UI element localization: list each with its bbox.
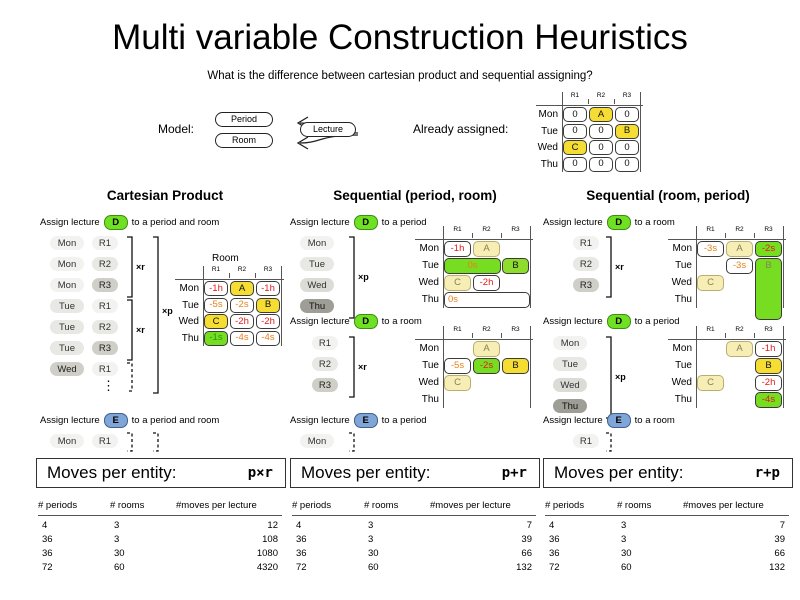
grid-vline (696, 326, 697, 408)
assign-prefix: Assign lecture (543, 316, 603, 327)
table-cell-periods: 72 (549, 562, 560, 573)
grid-cell: -3s (726, 258, 753, 274)
table-cell-periods: 4 (549, 520, 554, 531)
moves-label: Moves per entity: (554, 463, 683, 483)
grid-cell: -1h (444, 241, 471, 257)
grid-tick (725, 333, 726, 338)
table-cell-rooms: 3 (368, 534, 373, 545)
table-header-rule (38, 515, 282, 516)
table-header-rooms: # rooms (617, 500, 651, 511)
grid-row-label: Thu (666, 393, 692, 406)
table-header-rule (292, 515, 536, 516)
grid-cell: -2s (755, 241, 782, 257)
assign-prefix: Assign lecture (543, 415, 603, 426)
grid-vline (783, 226, 784, 308)
grid-col-header: R2 (476, 326, 498, 333)
lecture-chip-e[interactable]: E (104, 413, 128, 428)
period-token: Mon (50, 257, 84, 271)
moves-formula: p×r (248, 465, 273, 481)
table-cell-periods: 4 (296, 520, 301, 531)
grid-cell: B (615, 124, 639, 139)
table-cell-moves: 66 (683, 548, 785, 559)
grid-header-rule (415, 239, 533, 240)
lecture-chip-d[interactable]: D (607, 215, 631, 230)
grid-col-header: R3 (758, 326, 780, 333)
grid-row-label: Wed (173, 315, 199, 328)
grid-row-label: Wed (666, 376, 692, 389)
period-token: Mon (50, 236, 84, 250)
grid-row-label: Tue (413, 259, 439, 272)
grid-cell: -3s (697, 241, 724, 257)
grid-cell: -2h (755, 375, 782, 391)
table-cell-rooms: 30 (368, 548, 379, 559)
grid-vline (640, 92, 641, 172)
grid-col-header: R3 (758, 226, 780, 233)
grid-tick (588, 99, 589, 104)
grid-cell: -1h (204, 281, 228, 296)
ellipsis-vertical: ⋮ (102, 378, 116, 394)
table-cell-rooms: 60 (114, 562, 125, 573)
grid-cell: B (755, 358, 782, 374)
room-token: R3 (312, 378, 338, 392)
moves-formula: r+p (755, 465, 780, 481)
column-title-1: Sequential (period, room) (290, 188, 540, 203)
moves-box: Moves per entity:p+r (290, 458, 540, 488)
grid-row-label: Mon (173, 282, 199, 295)
tail-period-token: Mon (300, 434, 334, 448)
table-cell-moves: 7 (430, 520, 532, 531)
grid-caption-room: Room (212, 253, 239, 264)
grid-cell: B (256, 298, 280, 313)
grid-col-header: R2 (476, 226, 498, 233)
grid-row-label: Wed (413, 276, 439, 289)
grid-cell: A (589, 107, 613, 122)
grid-row-label: Mon (666, 342, 692, 355)
assign-prefix: Assign lecture (290, 217, 350, 228)
moves-label: Moves per entity: (301, 463, 430, 483)
table-cell-moves: 12 (176, 520, 278, 531)
grid-row-label: Thu (413, 293, 439, 306)
table-cell-moves: 1080 (176, 548, 278, 559)
grid-row-label: Wed (534, 141, 558, 154)
table-cell-moves: 132 (430, 562, 532, 573)
grid-tick (754, 333, 755, 338)
multiplier-p: ×p (615, 372, 626, 382)
table-cell-periods: 36 (296, 548, 307, 559)
grid-tick (501, 333, 502, 338)
grid-vline (783, 326, 784, 408)
grid-cell: A (473, 341, 500, 357)
grid-col-header: R1 (447, 226, 469, 233)
assign-line-2: Assign lectureDto a period (543, 314, 680, 329)
table-header-moves: #moves per lecture (176, 500, 257, 511)
multiplier-p: ×p (358, 272, 369, 282)
grid-tick (725, 233, 726, 238)
period-token: Thu (300, 299, 334, 313)
grid-row-label: Mon (413, 242, 439, 255)
grid-cell: -1h (755, 341, 782, 357)
bracket-outer (152, 236, 160, 394)
room-token: R1 (92, 299, 118, 313)
assign-prefix: Assign lecture (40, 415, 100, 426)
table-cell-rooms: 3 (621, 520, 626, 531)
grid-cell: 0 (589, 157, 613, 172)
grid-col-header: R3 (616, 92, 638, 99)
grid-cell: 0 (589, 140, 613, 155)
grid-cell: -2s (473, 358, 500, 374)
grid-vline (530, 226, 531, 308)
period-token: Tue (50, 341, 84, 355)
column-title-0: Cartesian Product (40, 188, 290, 203)
bracket-inner-2 (126, 299, 134, 361)
moves-formula: p+r (502, 465, 527, 481)
table-cell-moves: 7 (683, 520, 785, 531)
period-token: Mon (553, 336, 587, 350)
grid-col-header: R1 (205, 266, 227, 273)
grid-tick (255, 273, 256, 278)
assign-prefix: Assign lecture (290, 316, 350, 327)
table-cell-moves: 108 (176, 534, 278, 545)
table-cell-rooms: 60 (368, 562, 379, 573)
tail-room-token: R1 (573, 434, 599, 448)
grid-vline (530, 326, 531, 408)
model-label: Model: (158, 122, 194, 136)
grid-cell: B (502, 358, 529, 374)
period-token: Wed (300, 278, 334, 292)
grid-tick (472, 333, 473, 338)
bracket-tail-1 (126, 432, 134, 452)
grid-row-label: Tue (666, 259, 692, 272)
table-header-rule (545, 515, 789, 516)
room-token: R2 (92, 257, 118, 271)
grid-tick (754, 233, 755, 238)
room-token: R2 (312, 357, 338, 371)
period-token: Tue (553, 357, 587, 371)
grid-vline (696, 226, 697, 308)
grid-cell: 0 (615, 107, 639, 122)
grid-cell: 0 (615, 140, 639, 155)
assign-prefix: Assign lecture (40, 217, 100, 228)
grid-row-label: Mon (534, 108, 558, 121)
bracket-r (605, 236, 613, 298)
bracket-p (348, 236, 356, 319)
table-header-periods: # periods (292, 500, 331, 511)
slide-root: Multi variable Construction Heuristics W… (0, 0, 800, 600)
grid-row-label: Tue (413, 359, 439, 372)
grid-cell: -2h (473, 275, 500, 291)
grid-col-header: R2 (590, 92, 612, 99)
grid-cell: -5s (204, 298, 228, 313)
grid-cell: A (726, 241, 753, 257)
grid-col-header: R3 (257, 266, 279, 273)
grid-header-rule (415, 339, 533, 340)
lecture-chip-d-2[interactable]: D (607, 314, 631, 329)
room-token: R2 (573, 257, 599, 271)
table-header-rooms: # rooms (110, 500, 144, 511)
grid-cell: C (697, 375, 724, 391)
grid-cell: A (726, 341, 753, 357)
grid-row-label: Thu (666, 293, 692, 306)
already-assigned-label: Already assigned: (413, 122, 508, 136)
period-token: Tue (300, 257, 334, 271)
table-cell-moves: 39 (430, 534, 532, 545)
grid-cell: -2s (230, 298, 254, 313)
assign-suffix: to a period and room (132, 217, 220, 228)
grid-row-label: Tue (173, 299, 199, 312)
bracket-p (605, 336, 613, 419)
period-token: Tue (50, 320, 84, 334)
assign-line: Assign lectureDto a period and room (40, 215, 219, 230)
assign-prefix: Assign lecture (543, 217, 603, 228)
grid-col-header: R2 (729, 226, 751, 233)
table-header-periods: # periods (545, 500, 584, 511)
grid-row-label: Thu (534, 158, 558, 171)
table-cell-rooms: 30 (114, 548, 125, 559)
grid-col-header: R2 (231, 266, 253, 273)
grid-row-label: Mon (666, 242, 692, 255)
table-header-rooms: # rooms (364, 500, 398, 511)
assign-suffix: to a period and room (132, 415, 220, 426)
table-cell-moves: 132 (683, 562, 785, 573)
table-cell-periods: 36 (549, 548, 560, 559)
grid-cell: 0 (589, 124, 613, 139)
grid-cell: -4s (230, 331, 254, 346)
moves-box: Moves per entity:r+p (543, 458, 793, 488)
grid-cell: B (502, 258, 529, 274)
assign-line: Assign lectureDto a period (290, 215, 427, 230)
room-token: R3 (92, 278, 118, 292)
period-token: Mon (50, 278, 84, 292)
assign-suffix: to a period (382, 217, 427, 228)
page-title: Multi variable Construction Heuristics (0, 18, 800, 58)
grid-cell: C (204, 314, 228, 329)
page-subtitle: What is the difference between cartesian… (0, 70, 800, 82)
multiplier-r: ×r (615, 262, 624, 272)
table-cell-moves: 39 (683, 534, 785, 545)
room-token: R2 (92, 320, 118, 334)
bracket-r (348, 336, 356, 398)
grid-cell: -1s (204, 331, 228, 346)
assign-suffix: to a room (382, 316, 422, 327)
grid-row-label: Thu (413, 393, 439, 406)
assign-line-2: Assign lectureDto a room (290, 314, 422, 329)
grid-col-header: R2 (729, 326, 751, 333)
table-cell-periods: 36 (42, 534, 53, 545)
table-cell-moves: 4320 (176, 562, 278, 573)
assign-suffix: to a period (382, 415, 427, 426)
grid-cell: -4s (256, 331, 280, 346)
grid-cell: 0s (444, 292, 530, 308)
moves-box: Moves per entity:p×r (36, 458, 286, 488)
table-header-moves: #moves per lecture (683, 500, 764, 511)
grid-tick (614, 99, 615, 104)
grid-cell: A (473, 241, 500, 257)
grid-cell: C (444, 375, 471, 391)
grid-cell: C (444, 275, 471, 291)
grid-cell: -2h (256, 314, 280, 329)
grid-col-header: R1 (447, 326, 469, 333)
lecture-chip-e[interactable]: E (607, 413, 631, 428)
grid-vline (281, 266, 282, 346)
bracket-tail-2 (152, 432, 160, 452)
table-cell-rooms: 3 (114, 520, 119, 531)
assign-suffix: to a room (635, 415, 675, 426)
table-cell-periods: 36 (42, 548, 53, 559)
grid-cell: -1h (256, 281, 280, 296)
assign-suffix: to a period (635, 316, 680, 327)
assign-suffix: to a room (635, 217, 675, 228)
tail-room-token: R1 (92, 434, 118, 448)
grid-row-label: Wed (666, 276, 692, 289)
column-title-2: Sequential (room, period) (543, 188, 793, 203)
assign-prefix: Assign lecture (290, 415, 350, 426)
grid-cell: A (230, 281, 254, 296)
period-token: Thu (553, 399, 587, 413)
grid-row-label: Wed (413, 376, 439, 389)
bracket-tail (348, 432, 356, 452)
grid-col-header: R1 (564, 92, 586, 99)
grid-cell: 0s (444, 258, 501, 274)
table-cell-rooms: 3 (368, 520, 373, 531)
grid-row-label: Mon (413, 342, 439, 355)
moves-label: Moves per entity: (47, 463, 176, 483)
room-token: R1 (92, 236, 118, 250)
lecture-chip-d[interactable]: D (104, 215, 128, 230)
grid-row-label: Thu (173, 332, 199, 345)
period-token: Mon (300, 236, 334, 250)
tail-period-token: Mon (50, 434, 84, 448)
grid-cell: 0 (615, 157, 639, 172)
grid-cell: -2h (230, 314, 254, 329)
grid-cell: 0 (563, 107, 587, 122)
table-header-periods: # periods (38, 500, 77, 511)
assign-line: Assign lectureDto a room (543, 215, 675, 230)
multiplier-r-1: ×r (136, 262, 145, 272)
room-token: R1 (312, 336, 338, 350)
lecture-chip-d[interactable]: D (354, 215, 378, 230)
grid-cell: -5s (444, 358, 471, 374)
model-node-room: Room (215, 133, 273, 148)
model-node-period: Period (215, 112, 273, 127)
lecture-chip-e[interactable]: E (354, 413, 378, 428)
table-cell-periods: 36 (296, 534, 307, 545)
multiplier-p: ×p (162, 306, 173, 316)
lecture-chip-d-2[interactable]: D (354, 314, 378, 329)
table-cell-periods: 4 (42, 520, 47, 531)
multiplier-r: ×r (358, 362, 367, 372)
table-cell-rooms: 3 (621, 534, 626, 545)
grid-tick (472, 233, 473, 238)
room-token: R3 (92, 341, 118, 355)
assign-line-3: Assign lectureEto a room (543, 413, 675, 428)
table-header-moves: #moves per lecture (430, 500, 511, 511)
table-cell-periods: 72 (296, 562, 307, 573)
room-token: R1 (92, 362, 118, 376)
grid-cell: -4s (755, 392, 782, 408)
grid-cell: C (563, 140, 587, 155)
table-cell-rooms: 3 (114, 534, 119, 545)
period-token: Tue (50, 299, 84, 313)
period-token: Wed (553, 378, 587, 392)
table-cell-periods: 72 (42, 562, 53, 573)
grid-tick (501, 233, 502, 238)
bracket-inner-1 (126, 236, 134, 298)
grid-row-label: Tue (666, 359, 692, 372)
period-token: Wed (50, 362, 84, 376)
bracket-tail (605, 432, 613, 452)
bracket-inner-3 (126, 362, 134, 392)
grid-tick (229, 273, 230, 278)
grid-row-label: Tue (534, 125, 558, 138)
grid-col-header: R3 (505, 226, 527, 233)
table-cell-rooms: 60 (621, 562, 632, 573)
room-token: R1 (573, 236, 599, 250)
multiplier-r-2: ×r (136, 325, 145, 335)
grid-col-header: R1 (700, 226, 722, 233)
model-node-lecture: Lecture (300, 122, 356, 137)
grid-col-header: R3 (505, 326, 527, 333)
table-cell-periods: 36 (549, 534, 560, 545)
grid-col-header: R1 (700, 326, 722, 333)
grid-cell: C (697, 275, 724, 291)
grid-cell: 0 (563, 157, 587, 172)
grid-cell: 0 (563, 124, 587, 139)
table-cell-rooms: 30 (621, 548, 632, 559)
room-token: R3 (573, 278, 599, 292)
table-cell-moves: 66 (430, 548, 532, 559)
assign-line-3: Assign lectureEto a period (290, 413, 427, 428)
assign-line-2: Assign lectureEto a period and room (40, 413, 219, 428)
grid-cell: B (755, 258, 782, 320)
